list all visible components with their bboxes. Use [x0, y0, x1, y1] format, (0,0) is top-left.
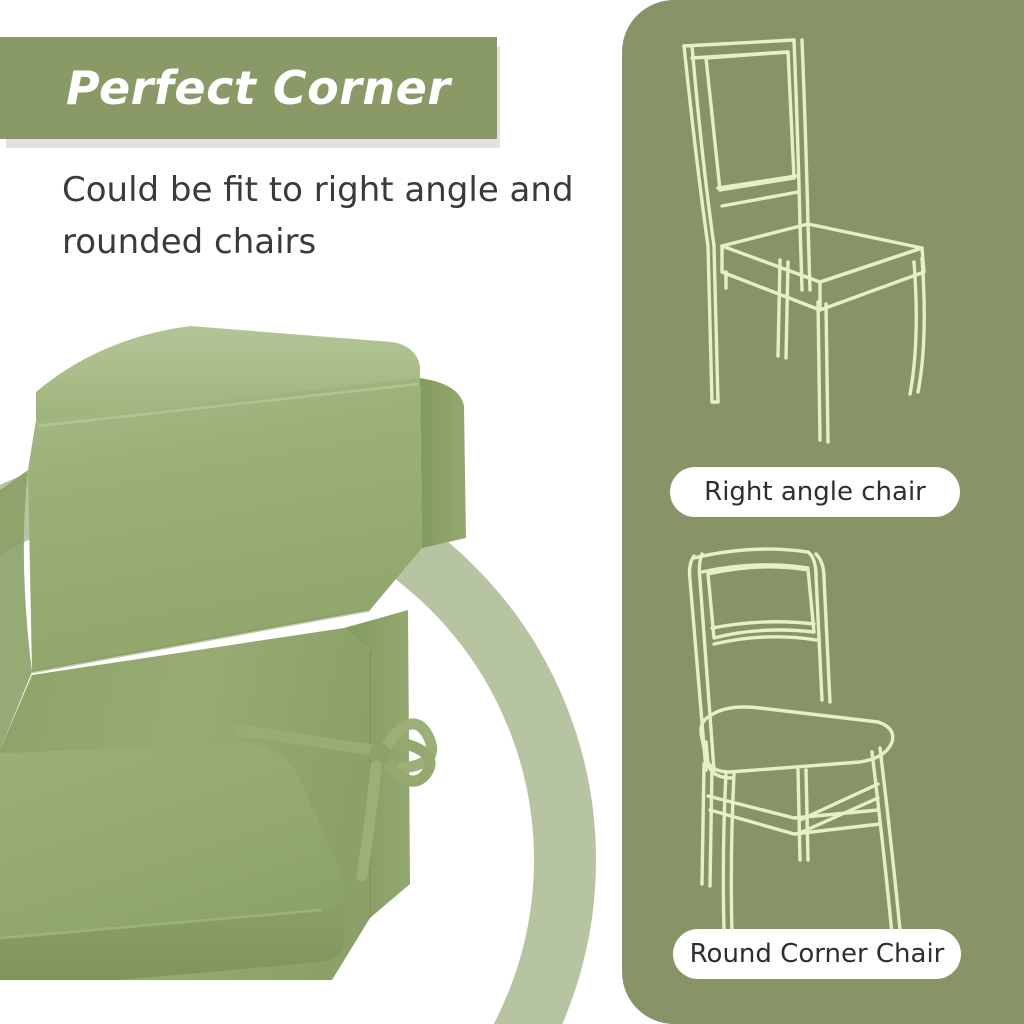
label-round-corner-chair: Round Corner Chair: [673, 929, 961, 979]
subtitle-line-1: Could be fit to right angle and: [62, 164, 607, 216]
label-round-corner-chair-text: Round Corner Chair: [690, 939, 945, 969]
infographic-page: Perfect Corner Could be fit to right ang…: [0, 0, 1024, 1024]
cushion-seat-panel: [0, 742, 345, 980]
label-right-angle-chair: Right angle chair: [670, 467, 960, 517]
product-image-chair-cushion: [0, 280, 500, 980]
subtitle: Could be fit to right angle and rounded …: [62, 164, 607, 268]
right-angle-chair-illustration: [622, 10, 1024, 450]
round-corner-chair-illustration: [622, 520, 1024, 930]
subtitle-line-2: rounded chairs: [62, 216, 607, 268]
page-title: Perfect Corner: [66, 58, 486, 118]
label-right-angle-chair-text: Right angle chair: [704, 477, 926, 507]
